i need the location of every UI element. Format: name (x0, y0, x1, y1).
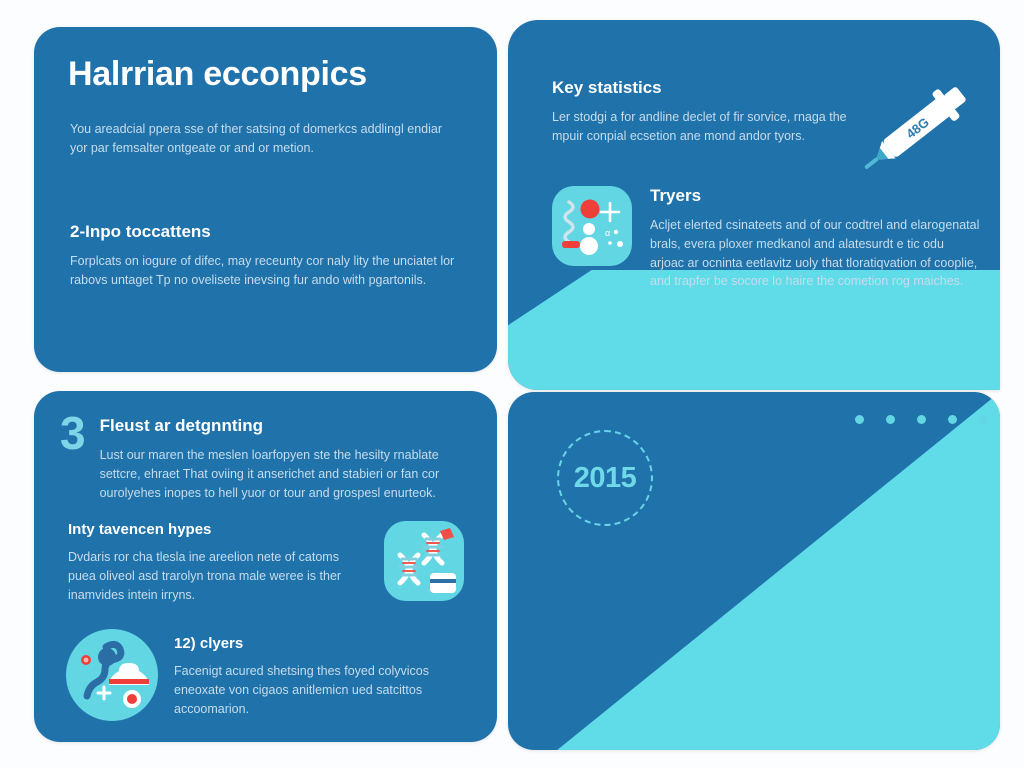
flask-block: 12) clyers Facenigt acured shetsing thes… (66, 629, 482, 721)
key-statistics-body: Ler stodgi a for andline declet of fir s… (552, 108, 852, 147)
infographic-canvas: Halrrian ecconpics You areadcial ppera s… (0, 0, 1024, 768)
key-statistics-block: Key statistics Ler stodgi a for andline … (552, 78, 852, 147)
progress-dot (917, 415, 926, 424)
intro-section-2-body: Forplcats on iogure of difec, may receun… (70, 252, 466, 291)
dna-icon (384, 521, 464, 601)
flask-text: 12) clyers Facenigt acured shetsing thes… (174, 629, 464, 718)
svg-text:α: α (605, 228, 610, 238)
flask-heading: 12) clyers (174, 635, 464, 652)
intro-section-2: 2-Inpo toccattens Forplcats on iogure of… (70, 222, 466, 291)
intro-section-2-heading: 2-Inpo toccattens (70, 222, 466, 242)
tryers-body: Acljet elerted csinateets and of our cod… (650, 216, 980, 291)
molecule-icon: α (552, 186, 632, 266)
tryers-text: Tryers Acljet elerted csinateets and of … (650, 186, 980, 291)
year-label: 2015 (574, 462, 637, 495)
year-badge: 2015 (557, 430, 653, 526)
flask-body: Facenigt acured shetsing thes foyed coly… (174, 662, 464, 718)
step-3-heading: Fleust ar detgnnting (100, 416, 458, 436)
dna-block: Inty tavencen hypes Dvdaris ror cha tles… (68, 521, 482, 604)
lab-flask-icon (66, 629, 158, 721)
step-3-block: 3 Fleust ar detgnnting Lust our maren th… (60, 412, 480, 502)
dna-text: Inty tavencen hypes Dvdaris ror cha tles… (68, 521, 368, 604)
tryers-heading: Tryers (650, 186, 980, 206)
dna-heading: Inty tavencen hypes (68, 521, 368, 538)
progress-dot (948, 415, 957, 424)
tryers-block: α Tryers Acljet elerted csinateets and o… (552, 186, 982, 291)
page-title: Halrrian ecconpics (68, 55, 367, 94)
progress-dot (886, 415, 895, 424)
intro-lead-text: You areadcial ppera sse of ther satsing … (70, 120, 458, 159)
progress-dot (979, 415, 988, 424)
syringe-icon: 48G (845, 78, 985, 178)
progress-dots (855, 415, 988, 424)
step-number: 3 (60, 412, 86, 454)
step-3-body: Lust our maren the meslen loarfopyen ste… (100, 446, 458, 502)
key-statistics-heading: Key statistics (552, 78, 852, 98)
progress-dot (855, 415, 864, 424)
dna-body: Dvdaris ror cha tlesla ine areelion nete… (68, 548, 368, 604)
step-3-text: Fleust ar detgnnting Lust our maren the … (100, 412, 458, 502)
